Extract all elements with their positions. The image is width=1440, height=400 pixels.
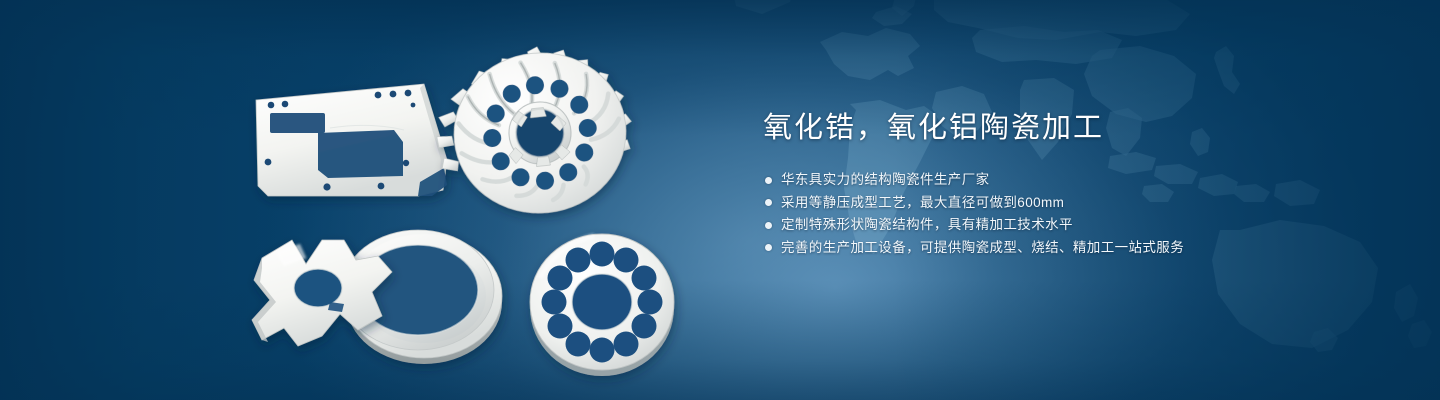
feature-text: 华东具实力的结构陶瓷件生产厂家 (781, 169, 990, 191)
ceramic-processing-banner: 氧化锆，氧化铝陶瓷加工 华东具实力的结构陶瓷件生产厂家 采用等静压成型工艺，最大… (0, 0, 1440, 400)
list-item: 定制特殊形状陶瓷结构件，具有精加工技术水平 (763, 214, 1363, 236)
feature-text: 定制特殊形状陶瓷结构件，具有精加工技术水平 (781, 214, 1073, 236)
list-item: 完善的生产加工设备，可提供陶瓷成型、烧结、精加工一站式服务 (763, 237, 1363, 259)
bullet-dot-icon (765, 177, 772, 184)
bullet-dot-icon (765, 222, 772, 229)
list-item: 华东具实力的结构陶瓷件生产厂家 (763, 169, 1363, 191)
banner-copy: 氧化锆，氧化铝陶瓷加工 华东具实力的结构陶瓷件生产厂家 采用等静压成型工艺，最大… (763, 108, 1363, 259)
bullet-dot-icon (765, 199, 772, 206)
list-item: 采用等静压成型工艺，最大直径可做到600mm (763, 192, 1363, 214)
bullet-dot-icon (765, 244, 772, 251)
page-title: 氧化锆，氧化铝陶瓷加工 (763, 108, 1363, 148)
feature-text: 完善的生产加工设备，可提供陶瓷成型、烧结、精加工一站式服务 (781, 237, 1184, 259)
feature-text: 采用等静压成型工艺，最大直径可做到600mm (781, 192, 1064, 214)
feature-list: 华东具实力的结构陶瓷件生产厂家 采用等静压成型工艺，最大直径可做到600mm 定… (763, 169, 1363, 259)
